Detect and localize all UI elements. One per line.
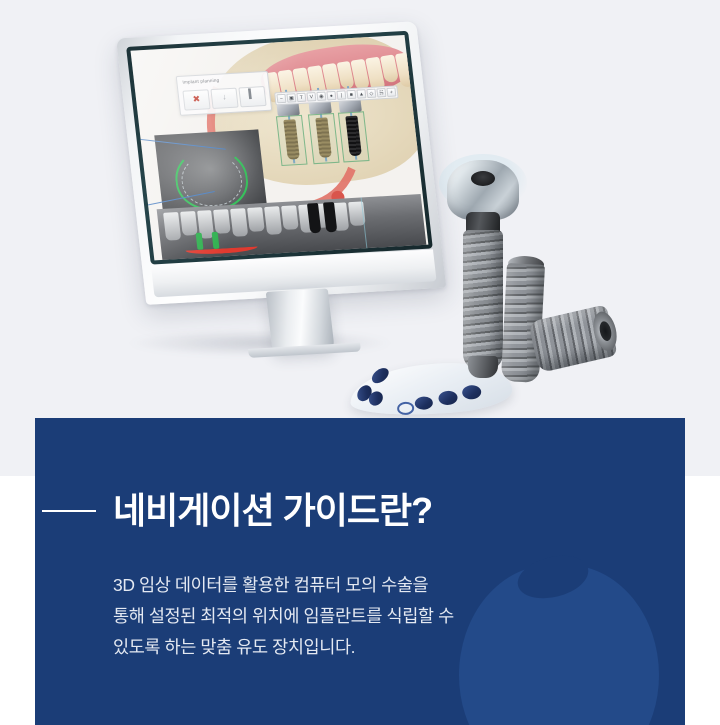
- dash-accent-icon: [42, 510, 96, 512]
- all-in-one-monitor: Implant planning − ▣ T V ◉: [116, 21, 450, 336]
- toolbar-icon[interactable]: ●: [326, 91, 336, 100]
- toolbar-icon[interactable]: +: [386, 87, 396, 96]
- xray-tooth: [230, 208, 248, 237]
- implant-crown-cap: [447, 160, 519, 220]
- toolbar-icon[interactable]: −: [276, 94, 286, 103]
- dialog-button-group: [182, 86, 266, 111]
- implant-planning-dialog[interactable]: Implant planning: [176, 71, 273, 116]
- description-line-1: 3D 임상 데이터를 활용한 컴퓨터 모의 수술을: [113, 570, 613, 601]
- planning-software-screen: Implant planning − ▣ T V ◉: [131, 35, 429, 260]
- xray-tooth: [281, 205, 299, 230]
- toolbar-icon[interactable]: ▣: [286, 93, 296, 102]
- close-icon[interactable]: [182, 89, 210, 110]
- implant-fixtures: [415, 160, 620, 410]
- toolbar-icon[interactable]: |: [336, 90, 346, 99]
- toolbar-icon[interactable]: V: [306, 92, 316, 101]
- implant-threaded-body: [463, 230, 503, 370]
- monitor-body: Implant planning − ▣ T V ◉: [116, 21, 446, 305]
- toolbar-icon[interactable]: ▲: [356, 89, 366, 98]
- xray-tooth: [214, 209, 232, 234]
- toolbar-icon[interactable]: ◉: [316, 92, 326, 101]
- bar-icon[interactable]: [238, 86, 266, 107]
- down-arrow-icon[interactable]: [210, 88, 238, 109]
- content-panel: 네비게이션 가이드란? 3D 임상 데이터를 활용한 컴퓨터 모의 수술을 통해…: [35, 418, 685, 725]
- implant-apex: [468, 356, 498, 378]
- xray-tooth: [247, 207, 265, 232]
- xray-tooth: [264, 206, 282, 235]
- headline-row: 네비게이션 가이드란?: [42, 492, 432, 530]
- crown-screw-hole: [471, 171, 495, 186]
- description-line-2: 통해 설정된 최적의 위치에 임플란트를 식립할 수: [113, 601, 613, 632]
- dialog-title: Implant planning: [182, 78, 219, 85]
- toolbar-icon[interactable]: ■: [346, 90, 356, 99]
- xray-tooth: [180, 211, 198, 236]
- page-root: Implant planning − ▣ T V ◉: [0, 0, 720, 725]
- toolbar-icon[interactable]: ◇: [366, 89, 376, 98]
- description-line-3: 있도록 하는 맞춤 유도 장치입니다.: [113, 632, 613, 663]
- tooth: [395, 52, 416, 87]
- toolbar-icon[interactable]: ☵: [376, 88, 386, 97]
- xray-tooth: [163, 212, 181, 241]
- toolbar-icon[interactable]: T: [296, 93, 306, 102]
- page-title: 네비게이션 가이드란?: [113, 492, 432, 530]
- panel-description: 3D 임상 데이터를 활용한 컴퓨터 모의 수술을 통해 설정된 최적의 위치에…: [113, 570, 613, 663]
- monitor-bezel: Implant planning − ▣ T V ◉: [126, 31, 433, 265]
